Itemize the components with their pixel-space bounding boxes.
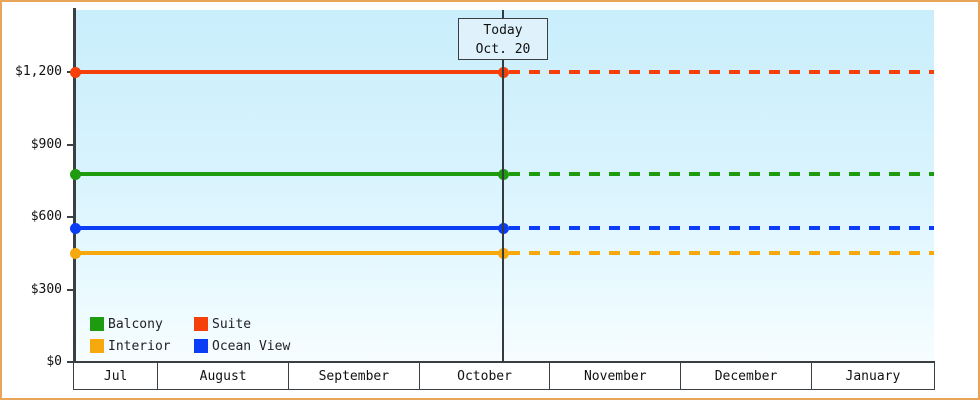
month-cell-december[interactable]: December: [681, 363, 812, 389]
legend-item-label: Ocean View: [212, 339, 290, 354]
today-callout-line1: Today: [459, 21, 547, 40]
y-axis-line: [73, 8, 76, 364]
legend-item-ocean-view[interactable]: Ocean View: [194, 339, 290, 354]
y-axis-label: $300: [31, 282, 62, 297]
y-axis-label: $1,200: [15, 64, 62, 79]
legend-item-label: Interior: [108, 339, 171, 354]
month-cell-jul[interactable]: Jul: [74, 363, 158, 389]
y-axis-label: $900: [31, 137, 62, 152]
y-axis-tick: [67, 289, 74, 291]
y-axis-label: $600: [31, 209, 62, 224]
price-trend-chart: $1,200$900$600$300$0 Today Oct. 20 Balco…: [0, 0, 980, 400]
month-cell-september[interactable]: September: [289, 363, 420, 389]
series-line-solid-ocean-view: [76, 226, 503, 230]
legend-item-label: Suite: [212, 317, 251, 332]
legend-item-label: Balcony: [108, 317, 163, 332]
legend-swatch-icon: [90, 339, 104, 353]
series-line-projected-balcony: [509, 172, 934, 176]
y-axis-tick: [67, 144, 74, 146]
chart-legend: BalconySuiteInteriorOcean View: [90, 313, 290, 357]
month-cell-august[interactable]: August: [158, 363, 289, 389]
today-callout-line2: Oct. 20: [459, 40, 547, 59]
legend-item-interior[interactable]: Interior: [90, 339, 194, 354]
month-cell-november[interactable]: November: [550, 363, 681, 389]
plot-area: [76, 10, 934, 362]
legend-swatch-icon: [194, 339, 208, 353]
series-line-projected-ocean-view: [509, 226, 934, 230]
series-line-solid-suite: [76, 70, 503, 74]
series-line-projected-suite: [509, 70, 934, 74]
series-marker-ocean-view-start: [70, 223, 81, 234]
series-line-solid-interior: [76, 251, 503, 255]
month-cell-january[interactable]: January: [812, 363, 934, 389]
y-axis-tick: [67, 216, 74, 218]
series-marker-balcony-start: [70, 169, 81, 180]
today-callout-box: Today Oct. 20: [458, 18, 548, 60]
today-vertical-line: [502, 10, 504, 362]
legend-item-balcony[interactable]: Balcony: [90, 317, 194, 332]
series-marker-suite-start: [70, 67, 81, 78]
legend-item-suite[interactable]: Suite: [194, 317, 290, 332]
month-cell-october[interactable]: October: [420, 363, 551, 389]
series-line-solid-balcony: [76, 172, 503, 176]
legend-swatch-icon: [194, 317, 208, 331]
series-line-projected-interior: [509, 251, 934, 255]
legend-swatch-icon: [90, 317, 104, 331]
month-axis: JulAugustSeptemberOctoberNovemberDecembe…: [73, 363, 935, 390]
y-axis-label: $0: [46, 354, 62, 369]
